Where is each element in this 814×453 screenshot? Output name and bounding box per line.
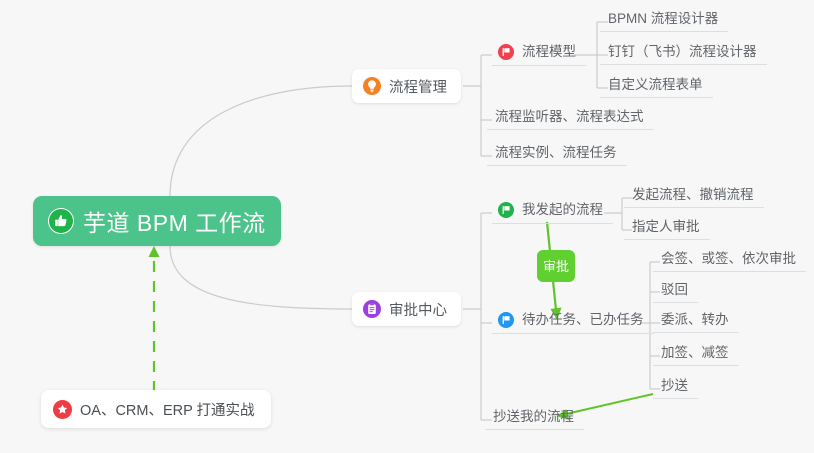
- arrow-card-to-root: [149, 246, 160, 392]
- star-icon: [53, 400, 72, 419]
- card-label: OA、CRM、ERP 打通实战: [80, 399, 255, 420]
- topic-label: 自定义流程表单: [608, 78, 703, 92]
- thumbs-up-icon: [48, 208, 74, 234]
- topic-todo-done-tasks[interactable]: 待办任务、已办任务: [492, 310, 654, 334]
- topic-label: 发起流程、撤销流程: [632, 188, 754, 202]
- wire-root-to-process-management: [170, 86, 352, 196]
- mindmap-canvas: 芋道 BPM 工作流 流程管理 审批中心: [0, 0, 814, 453]
- topic-process-model[interactable]: 流程模型: [492, 42, 586, 66]
- flag-icon: [498, 202, 514, 218]
- topic-label: BPMN 流程设计器: [608, 12, 718, 26]
- topic-label: 钉钉（飞书）流程设计器: [608, 45, 757, 59]
- branch-label: 审批中心: [389, 299, 447, 320]
- branch-label: 流程管理: [389, 76, 447, 97]
- flag-icon: [498, 312, 514, 328]
- topic-label: 抄送: [661, 379, 688, 393]
- topic-custom-form[interactable]: 自定义流程表单: [600, 76, 713, 98]
- topic-cc[interactable]: 抄送: [653, 377, 698, 399]
- topic-label: 流程模型: [522, 45, 576, 59]
- topic-reject[interactable]: 驳回: [653, 281, 698, 303]
- topic-instance-task[interactable]: 流程实例、流程任务: [487, 144, 627, 166]
- branch-node-approval-center[interactable]: 审批中心: [352, 292, 461, 326]
- topic-bpmn-designer[interactable]: BPMN 流程设计器: [600, 10, 728, 32]
- root-node[interactable]: 芋道 BPM 工作流: [33, 196, 281, 246]
- topic-delegate-transfer[interactable]: 委派、转办: [653, 311, 739, 333]
- flag-icon: [498, 44, 514, 60]
- topic-label: 会签、或签、依次审批: [661, 252, 796, 266]
- clipboard-icon: [363, 300, 381, 318]
- topic-label: 委派、转办: [661, 313, 729, 327]
- wire-root-to-approval-center: [170, 246, 352, 309]
- lightbulb-icon: [363, 77, 381, 95]
- topic-listener-expression[interactable]: 流程监听器、流程表达式: [487, 108, 654, 130]
- topic-countersign[interactable]: 会签、或签、依次审批: [653, 250, 806, 272]
- topic-label: 指定人审批: [632, 220, 700, 234]
- topic-assignee-approval[interactable]: 指定人审批: [624, 218, 710, 240]
- topic-label: 加签、减签: [661, 346, 729, 360]
- tag-label: 审批: [543, 260, 569, 273]
- topic-label: 抄送我的流程: [493, 410, 574, 424]
- root-label: 芋道 BPM 工作流: [83, 204, 266, 238]
- tag-approval[interactable]: 审批: [537, 250, 575, 282]
- topic-label: 我发起的流程: [522, 203, 603, 217]
- topic-launch-cancel-flow[interactable]: 发起流程、撤销流程: [624, 186, 764, 208]
- topic-my-started-flows[interactable]: 我发起的流程: [492, 200, 613, 224]
- card-node-integration[interactable]: OA、CRM、ERP 打通实战: [41, 390, 271, 428]
- branch-node-process-management[interactable]: 流程管理: [352, 69, 461, 103]
- topic-label: 流程监听器、流程表达式: [495, 110, 644, 124]
- topic-dingtalk-designer[interactable]: 钉钉（飞书）流程设计器: [600, 43, 767, 65]
- topic-label: 待办任务、已办任务: [522, 313, 644, 327]
- topic-label: 驳回: [661, 283, 688, 297]
- topic-label: 流程实例、流程任务: [495, 146, 617, 160]
- topic-cc-to-me-flows[interactable]: 抄送我的流程: [485, 408, 584, 430]
- topic-add-remove-sign[interactable]: 加签、减签: [653, 344, 739, 366]
